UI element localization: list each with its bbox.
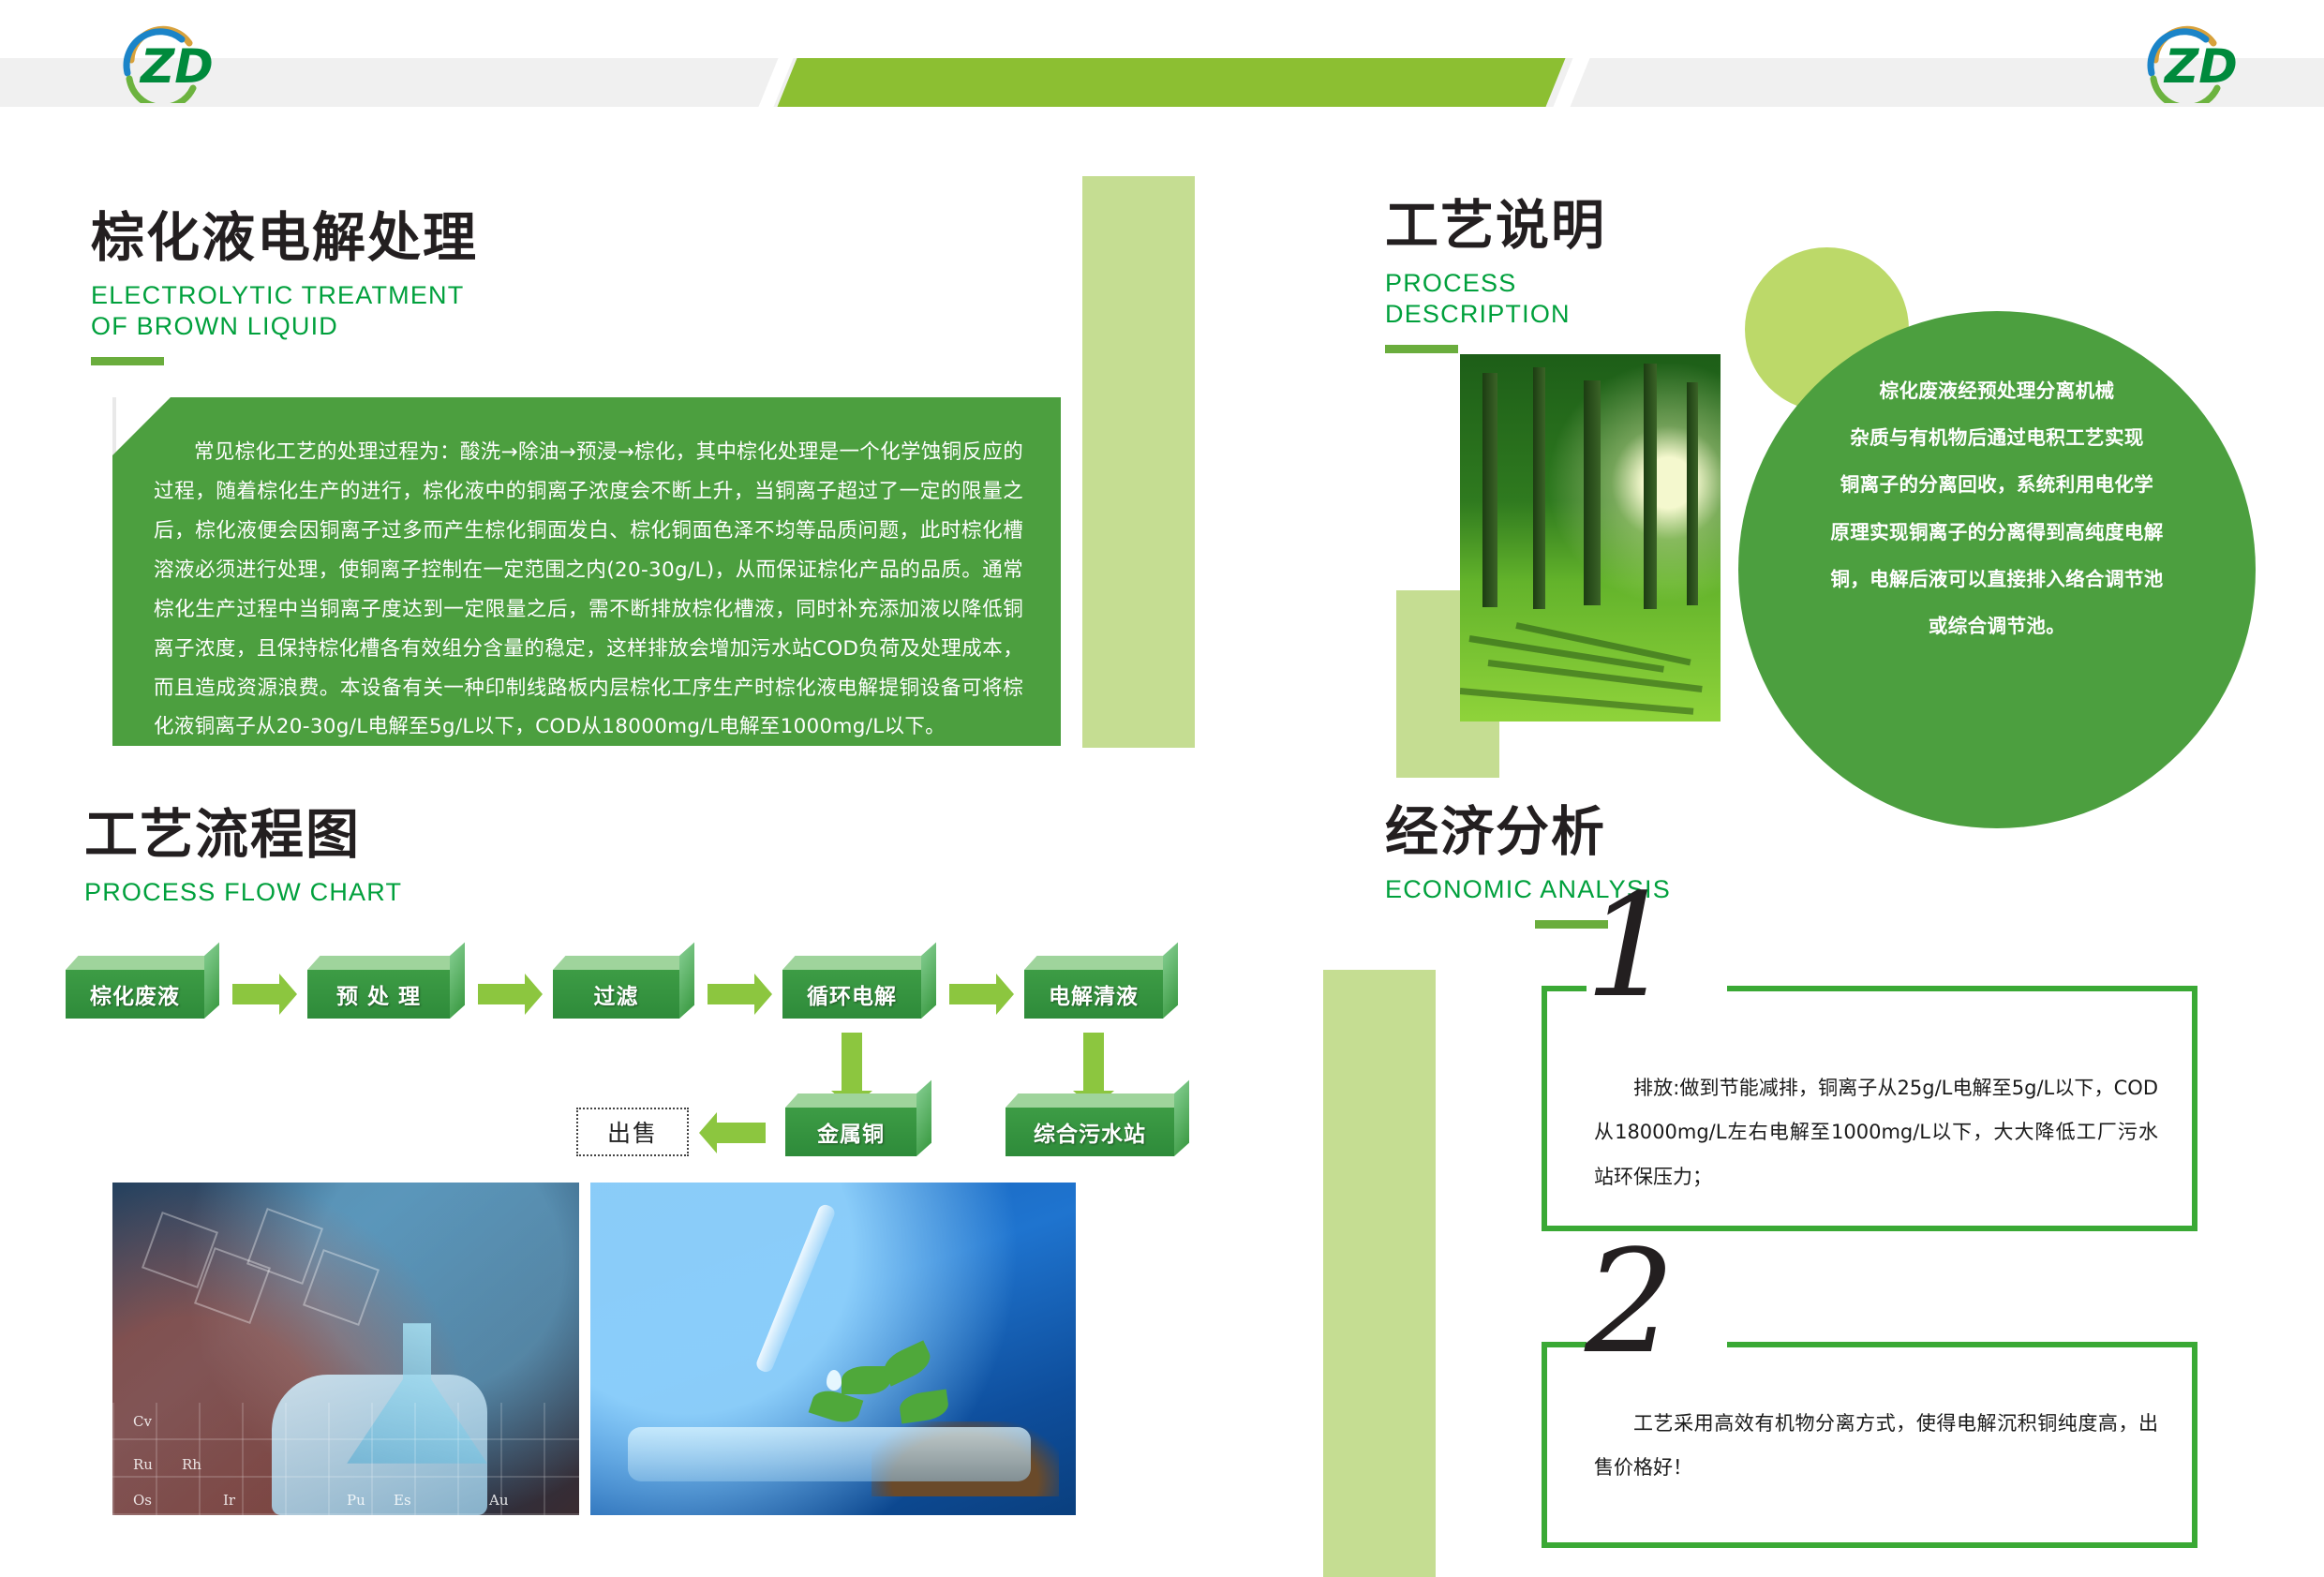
page-title-cn: 棕化液电解处理 (91, 195, 478, 272)
section-electrolytic-heading: 棕化液电解处理 ELECTROLYTIC TREATMENT OF BROWN … (91, 195, 478, 365)
flow-arrow-waste-to-pretreat (232, 984, 279, 1004)
economic-item-2-number: 2 (1585, 1231, 1676, 1374)
lab-pipette-plant-photo (590, 1183, 1076, 1515)
logo-left: ZD (103, 17, 253, 103)
economic-item-2: 2 工艺采用高效有机物分离方式，使得电解沉积铜纯度高，出售价格好！ (1542, 1342, 2197, 1548)
page-title-en-line2: OF BROWN LIQUID (91, 311, 478, 342)
flow-arrow-cyclic-to-clearliquid (949, 984, 996, 1004)
economic-item-1-number: 1 (1585, 875, 1676, 1018)
process-title-underline-rule (1385, 345, 1458, 353)
flow-arrow-pretreat-to-filter (478, 984, 525, 1004)
forest-photo (1460, 354, 1721, 722)
flow-node-filter[interactable]: 过滤 (553, 970, 679, 1019)
economic-title-cn: 经济分析 (1385, 789, 1671, 866)
flow-node-waste[interactable]: 棕化废液 (66, 970, 204, 1019)
flow-arrow-filter-to-cyclic (708, 984, 754, 1004)
electrolytic-description-callout: 常见棕化工艺的处理过程为：酸洗→除油→预浸→棕化，其中棕化处理是一个化学蚀铜反应… (112, 397, 1061, 746)
flow-node-metalcopper[interactable]: 金属铜 (785, 1108, 916, 1156)
section-flowchart-heading: 工艺流程图 PROCESS FLOW CHART (84, 792, 402, 908)
economic-item-1: 1 排放:做到节能减排，铜离子从25g/L电解至5g/L以下，COD从18000… (1542, 986, 2197, 1231)
title-underline-rule (91, 357, 164, 365)
flowchart-title-cn: 工艺流程图 (84, 792, 402, 869)
economic-item-1-text: 排放:做到节能减排，铜离子从25g/L电解至5g/L以下，COD从18000mg… (1594, 1066, 2158, 1199)
flow-node-filter-label: 过滤 (594, 978, 639, 1010)
flow-node-clearliquid[interactable]: 电解清液 (1024, 970, 1163, 1019)
process-title-en: PROCESS DESCRIPTION (1385, 268, 1606, 330)
flowchart-title-en: PROCESS FLOW CHART (84, 877, 402, 908)
poster-page: ZD ZD 棕化液电解处理 ELECTROLYTIC TREATMENT OF … (0, 0, 2324, 1577)
lab-chemistry-photo: Cv Ru Rh Os Ir Pu Es Au (112, 1183, 579, 1515)
circle-text-line-5: 铜，电解后液可以直接排入络合调节池 (1785, 556, 2209, 603)
svg-text:ZD: ZD (2163, 39, 2238, 94)
flow-arrow-metalcopper-to-sell (717, 1123, 766, 1143)
circle-text-line-1: 棕化废液经预处理分离机械 (1785, 367, 2209, 414)
flow-node-cyclic[interactable]: 循环电解 (782, 970, 921, 1019)
flow-node-waste-label: 棕化废液 (90, 978, 180, 1010)
circle-text-line-3: 铜离子的分离回收，系统利用电化学 (1785, 461, 2209, 508)
flow-node-cyclic-label: 循环电解 (807, 978, 897, 1010)
page-title-en-line1: ELECTROLYTIC TREATMENT (91, 280, 478, 311)
flow-node-sell-label: 出售 (607, 1115, 658, 1149)
electrolytic-body-text: 常见棕化工艺的处理过程为：酸洗→除油→预浸→棕化，其中棕化处理是一个化学蚀铜反应… (154, 433, 1023, 747)
process-description-circle-text: 棕化废液经预处理分离机械 杂质与有机物后通过电积工艺实现 铜离子的分离回收，系统… (1785, 367, 2209, 649)
page-title-en: ELECTROLYTIC TREATMENT OF BROWN LIQUID (91, 280, 478, 342)
economic-item-2-text: 工艺采用高效有机物分离方式，使得电解沉积铜纯度高，出售价格好！ (1594, 1402, 2158, 1491)
top-bar-green-chevron (777, 58, 1565, 107)
flow-node-clearliquid-label: 电解清液 (1049, 978, 1139, 1010)
process-title-en-line2: DESCRIPTION (1385, 299, 1606, 330)
process-title-cn: 工艺说明 (1385, 183, 1606, 260)
flow-node-sell[interactable]: 出售 (576, 1108, 689, 1156)
process-flow-diagram: 棕化废液 预 处 理 过滤 循环电解 电解清液 出售 金属铜 综合污水 (56, 946, 1087, 1153)
circle-text-line-6: 或综合调节池。 (1785, 603, 2209, 649)
decorative-bar-top-left (1082, 176, 1195, 748)
decorative-bar-bottom-right (1323, 970, 1436, 1577)
logo-right: ZD (2127, 17, 2277, 103)
flow-node-sewage[interactable]: 综合污水站 (1006, 1108, 1174, 1156)
circle-text-line-4: 原理实现铜离子的分离得到高纯度电解 (1785, 509, 2209, 556)
flow-node-metalcopper-label: 金属铜 (817, 1116, 885, 1148)
flow-arrow-cyclic-down (842, 1033, 862, 1091)
flow-node-pretreat[interactable]: 预 处 理 (307, 970, 450, 1019)
flow-node-sewage-label: 综合污水站 (1034, 1116, 1146, 1148)
flow-node-pretreat-label: 预 处 理 (336, 978, 421, 1010)
process-title-en-line1: PROCESS (1385, 268, 1606, 299)
section-process-heading: 工艺说明 PROCESS DESCRIPTION (1385, 183, 1606, 353)
circle-text-line-2: 杂质与有机物后通过电积工艺实现 (1785, 414, 2209, 461)
flow-arrow-clearliquid-down (1083, 1033, 1104, 1091)
svg-text:ZD: ZD (139, 39, 214, 94)
